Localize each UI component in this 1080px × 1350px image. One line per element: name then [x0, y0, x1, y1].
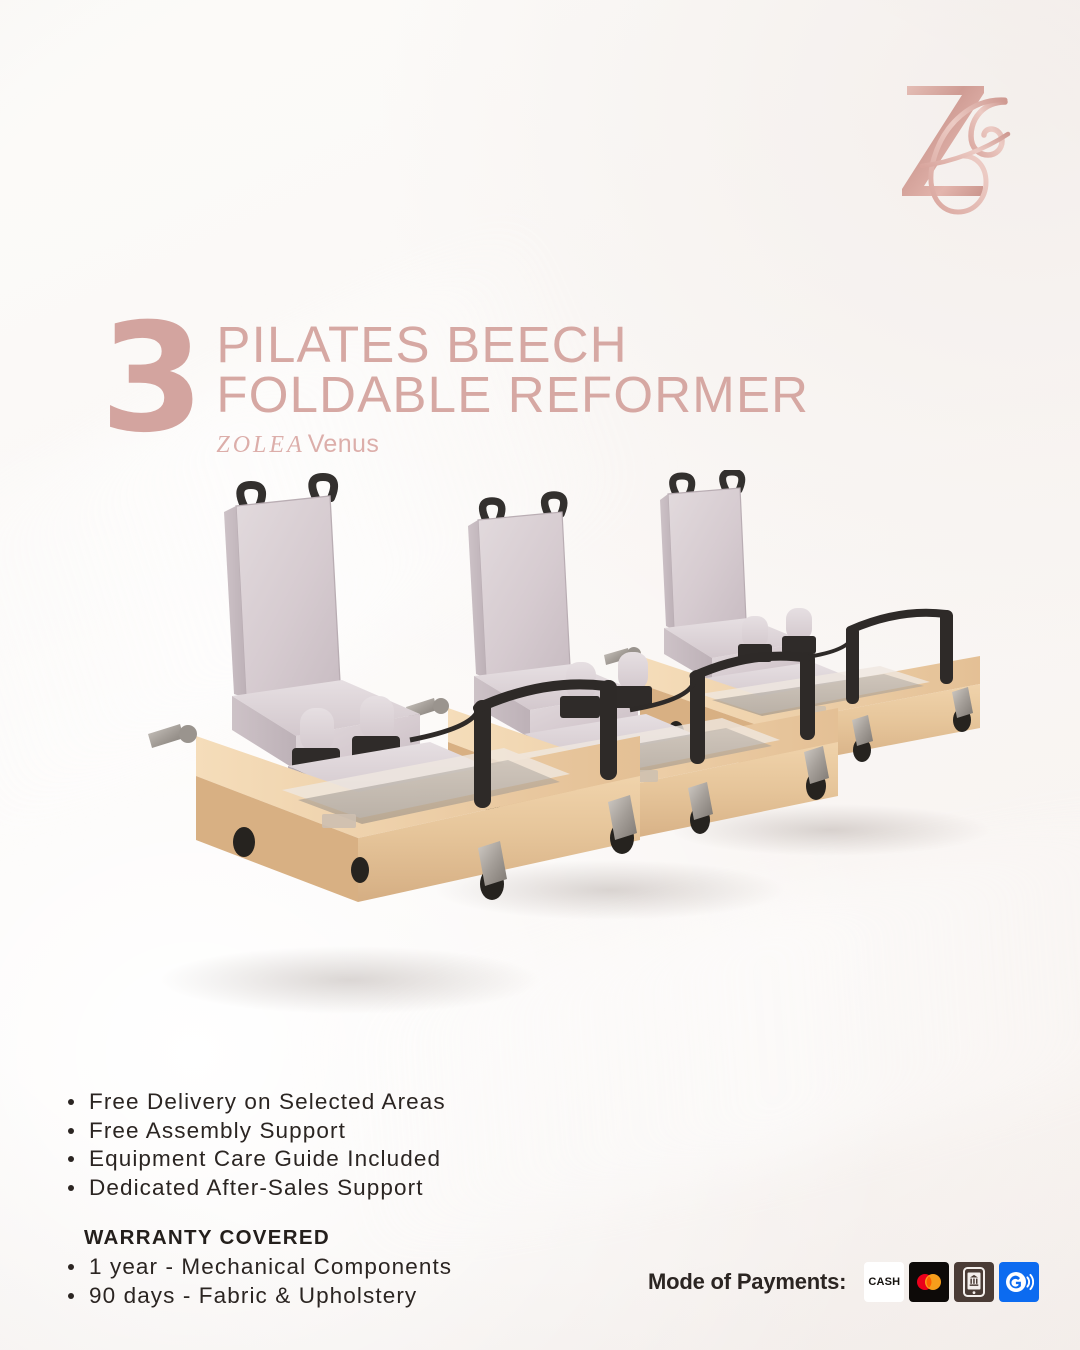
- pilates-reformers-illustration: [0, 470, 1080, 1050]
- warranty-heading: WARRANTY COVERED: [84, 1226, 622, 1250]
- headline-block: 3 PILATES BEECH FOLDABLE REFORMER ZOLEAV…: [100, 308, 809, 459]
- payment-badges: CASH: [864, 1262, 1039, 1302]
- cash-icon: CASH: [868, 1276, 900, 1288]
- product-image: [0, 470, 1080, 1050]
- list-item: Equipment Care Guide Included: [62, 1145, 622, 1173]
- payments-label: Mode of Payments:: [648, 1269, 846, 1295]
- zolea-monogram-z-icon: [866, 62, 1038, 234]
- mastercard-icon: [914, 1272, 944, 1292]
- payment-method-gcash[interactable]: [999, 1262, 1039, 1302]
- list-item: Free Assembly Support: [62, 1117, 622, 1145]
- reformer-unit-1: [148, 477, 640, 902]
- model-name: Venus: [308, 430, 380, 458]
- zolea-logo: [866, 62, 1038, 234]
- list-item: 90 days - Fabric & Upholstery: [62, 1282, 622, 1310]
- model-brand: ZOLEA: [216, 432, 304, 458]
- feature-list: Free Delivery on Selected Areas Free Ass…: [62, 1088, 622, 1201]
- mobile-banking-icon: [963, 1267, 985, 1297]
- payment-method-mastercard[interactable]: [909, 1262, 949, 1302]
- payments-section: Mode of Payments: CASH: [648, 1262, 1039, 1302]
- list-item: Dedicated After-Sales Support: [62, 1174, 622, 1202]
- title-line-2: FOLDABLE REFORMER: [216, 370, 809, 420]
- product-count: 3: [100, 310, 200, 448]
- title-lines: PILATES BEECH FOLDABLE REFORMER ZOLEAVen…: [216, 308, 809, 459]
- warranty-list: 1 year - Mechanical Components 90 days -…: [62, 1253, 622, 1309]
- model-subtitle: ZOLEAVenus: [216, 430, 809, 459]
- payment-method-cash[interactable]: CASH: [864, 1262, 904, 1302]
- gcash-icon: [1004, 1269, 1034, 1295]
- list-item: Free Delivery on Selected Areas: [62, 1088, 622, 1116]
- features-section: Free Delivery on Selected Areas Free Ass…: [62, 1088, 622, 1309]
- payment-method-bank-transfer[interactable]: [954, 1262, 994, 1302]
- poster-canvas: 3 PILATES BEECH FOLDABLE REFORMER ZOLEAV…: [0, 0, 1080, 1350]
- title-line-1: PILATES BEECH: [216, 320, 809, 370]
- list-item: 1 year - Mechanical Components: [62, 1253, 622, 1281]
